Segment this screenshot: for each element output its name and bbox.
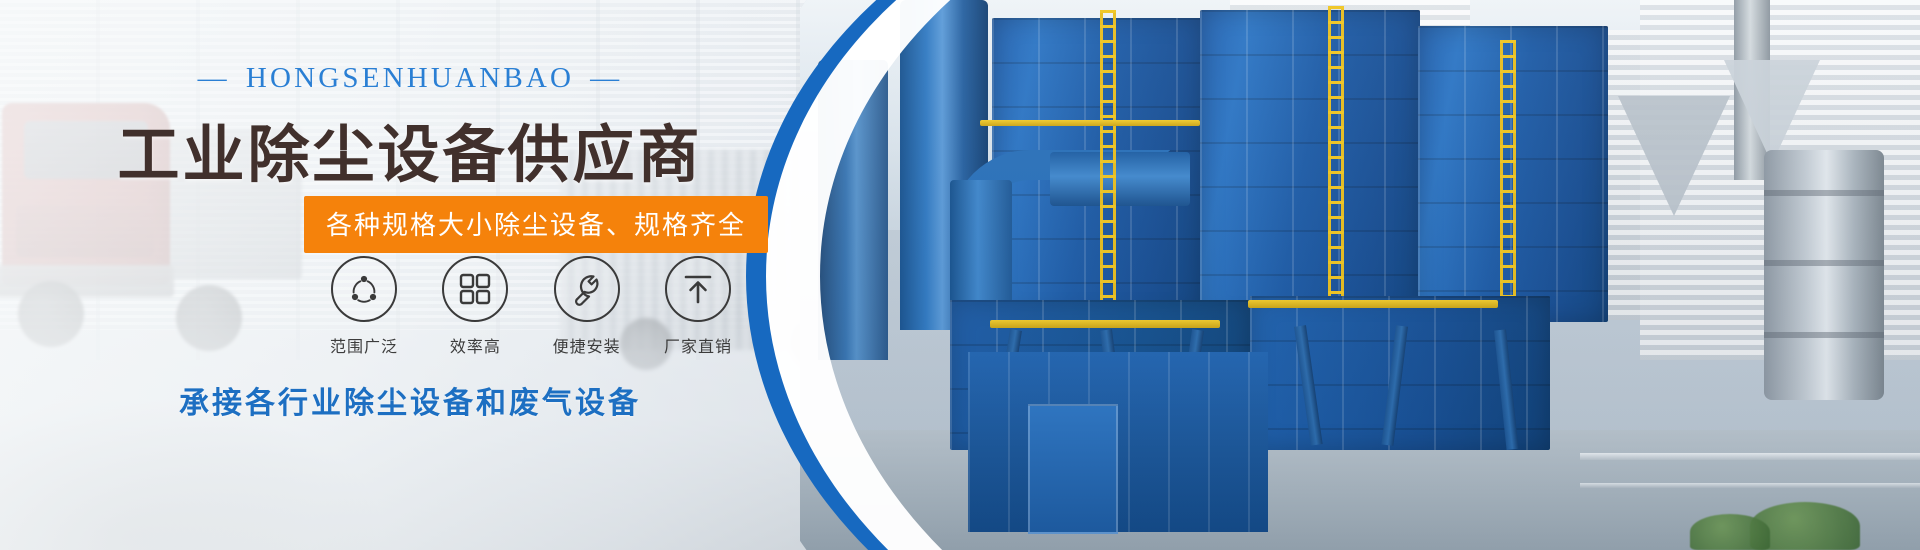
feature-list: 范围广泛 效率高 — [316, 256, 746, 357]
feature-label: 便捷安装 — [539, 333, 635, 357]
feature-icon-circle — [442, 256, 508, 322]
wrench-icon — [570, 272, 604, 306]
photo-tone-overlay — [800, 0, 1920, 550]
right-plant-photo — [800, 0, 1920, 550]
highlight-band: 各种规格大小除尘设备、规格齐全 — [304, 196, 768, 253]
share-nodes-icon — [347, 272, 381, 306]
page-title: 工业除尘设备供应商 — [0, 104, 820, 194]
hero-banner: —HONGSENHUANBAO— 工业除尘设备供应商 各种规格大小除尘设备、规格… — [0, 0, 1920, 550]
feature-item-installation[interactable]: 便捷安装 — [539, 256, 635, 357]
feature-label: 范围广泛 — [316, 333, 412, 357]
highlight-band-text: 各种规格大小除尘设备、规格齐全 — [326, 205, 746, 242]
eyebrow-tagline: —HONGSENHUANBAO— — [0, 62, 820, 95]
eyebrow-dash-left: — — [198, 62, 230, 95]
feature-label: 厂家直销 — [650, 333, 746, 357]
banner-tagline: 承接各行业除尘设备和废气设备 — [0, 378, 820, 422]
arrow-up-bar-icon — [682, 273, 714, 305]
feature-item-factory-direct[interactable]: 厂家直销 — [650, 256, 746, 357]
eyebrow-dash-right: — — [590, 62, 622, 95]
grid-squares-icon — [459, 273, 491, 305]
feature-item-range[interactable]: 范围广泛 — [316, 256, 412, 357]
feature-item-efficiency[interactable]: 效率高 — [427, 256, 523, 357]
feature-icon-circle — [665, 256, 731, 322]
feature-label: 效率高 — [427, 333, 523, 357]
feature-icon-circle — [554, 256, 620, 322]
feature-icon-circle — [331, 256, 397, 322]
eyebrow-text: HONGSENHUANBAO — [246, 62, 574, 94]
banner-text-content: —HONGSENHUANBAO— 工业除尘设备供应商 各种规格大小除尘设备、规格… — [0, 0, 820, 550]
